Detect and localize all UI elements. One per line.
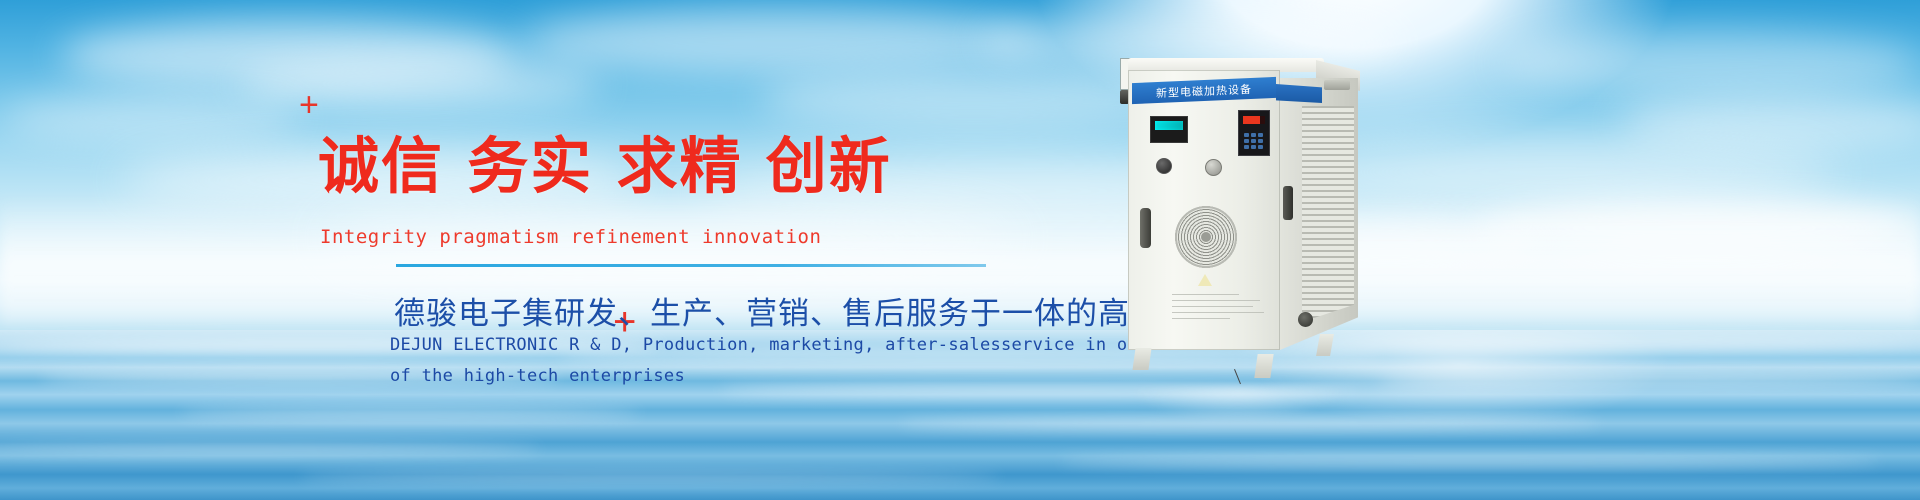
side-vents-icon: [1302, 106, 1354, 322]
cloud-wisp: [0, 95, 300, 141]
banner-subtitle-english: Integrity pragmatism refinement innovati…: [320, 226, 821, 248]
cooling-fan-icon: [1175, 206, 1237, 268]
warning-triangle-icon: [1198, 274, 1212, 286]
product-induction-heater: 新型电磁加热设备: [1120, 58, 1360, 388]
company-description-english: DEJUN ELECTRONIC R & D, Production, mark…: [390, 330, 1149, 392]
cloud-wisp: [240, 58, 600, 110]
wave-highlight: [180, 408, 640, 418]
led-readout-icon: [1243, 116, 1265, 124]
meter-needle-icon: [1234, 369, 1241, 384]
company-description-english-line1: DEJUN ELECTRONIC R & D, Production, mark…: [390, 330, 1149, 361]
keypad-panel-icon: [1238, 110, 1270, 156]
cloud-wisp: [1500, 30, 1920, 96]
top-vent-icon: [1324, 80, 1350, 90]
side-handle-icon: [1283, 186, 1293, 220]
temperature-controller-icon: [1150, 116, 1188, 143]
spec-plate-icon: [1172, 294, 1268, 324]
banner-headline: 诚信 务实 求精 创新: [318, 116, 892, 205]
selector-knob-icon: [1156, 158, 1172, 174]
plus-mark-icon: +: [299, 88, 319, 122]
door-handle-icon: [1140, 208, 1151, 248]
machine-foot: [1316, 334, 1334, 356]
wave-highlight: [300, 472, 1000, 482]
machine-foot: [1254, 354, 1273, 378]
adjustment-knob-icon: [1205, 159, 1222, 176]
divider-rule: [396, 264, 986, 267]
digital-display-icon: [1155, 121, 1183, 130]
power-port-icon: [1298, 312, 1313, 327]
machine-foot: [1132, 348, 1151, 370]
promo-banner: + + 诚信 务实 求精 创新 Integrity pragmatism ref…: [0, 0, 1920, 500]
company-description-english-line2: of the high-tech enterprises: [390, 361, 1149, 392]
cloud-wisp: [520, 8, 1040, 74]
product-reflection: [1128, 388, 1348, 422]
keypad-buttons-icon: [1244, 133, 1264, 149]
